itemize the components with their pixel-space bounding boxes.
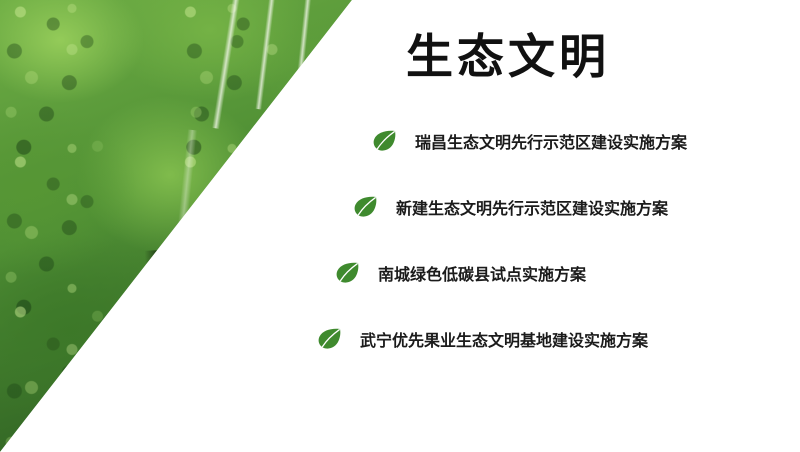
- list-item-label: 瑞昌生态文明先行示范区建设实施方案: [415, 129, 687, 153]
- item-list: 瑞昌生态文明先行示范区建设实施方案 新建生态文明先行示范区建设实施方案: [352, 108, 800, 372]
- list-item-label: 南城绿色低碳县试点实施方案: [378, 261, 586, 285]
- slide: 生态文明 瑞昌生态文明先行示范区建设实施方案: [0, 0, 800, 452]
- list-item[interactable]: 武宁优先果业生态文明基地建设实施方案: [352, 306, 800, 372]
- content-area: 生态文明 瑞昌生态文明先行示范区建设实施方案: [352, 0, 800, 452]
- list-item[interactable]: 新建生态文明先行示范区建设实施方案: [352, 174, 800, 240]
- leaf-icon: [334, 260, 360, 286]
- leaf-icon: [316, 326, 342, 352]
- list-item-label: 新建生态文明先行示范区建设实施方案: [396, 195, 668, 219]
- leaf-icon: [352, 194, 378, 220]
- list-item[interactable]: 南城绿色低碳县试点实施方案: [352, 240, 800, 306]
- list-item[interactable]: 瑞昌生态文明先行示范区建设实施方案: [352, 108, 800, 174]
- page-title: 生态文明: [406, 18, 610, 87]
- leaf-icon: [371, 128, 397, 154]
- list-item-label: 武宁优先果业生态文明基地建设实施方案: [360, 327, 648, 351]
